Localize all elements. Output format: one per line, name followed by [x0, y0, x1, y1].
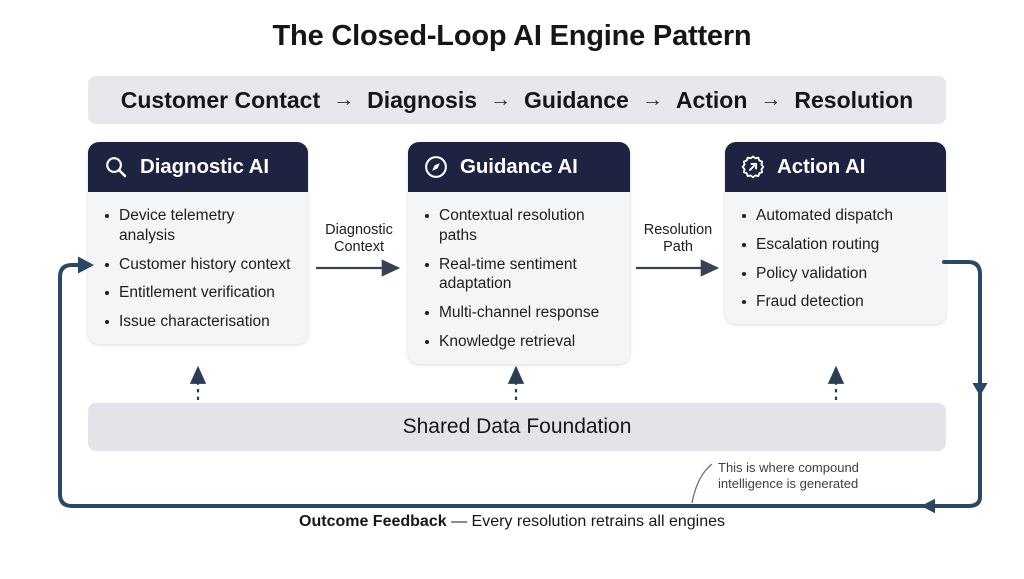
process-flow-strip: Customer Contact → Diagnosis → Guidance … — [88, 76, 946, 124]
feedback-loop-bottom-arrowhead — [921, 499, 935, 513]
flow-step-resolution: Resolution — [794, 87, 913, 114]
connector-label-resolution-path: Resolution Path — [622, 222, 734, 257]
connector-label-line-1: Diagnostic — [303, 222, 415, 239]
annotation-line-2: intelligence is generated — [718, 476, 918, 492]
caption-strong: Outcome Feedback — [299, 513, 447, 530]
card-title-action-ai: Action AI — [777, 155, 865, 179]
card-title-guidance-ai: Guidance AI — [460, 155, 578, 179]
flow-step-diagnosis: Diagnosis — [367, 87, 477, 114]
connector-label-diagnostic-context: Diagnostic Context — [303, 222, 415, 257]
gear-arrow-icon — [740, 154, 766, 180]
flow-step-customer-contact: Customer Contact — [121, 87, 320, 114]
feedback-loop-left-segment — [60, 265, 80, 506]
connector-label-line-2: Path — [622, 239, 734, 256]
card-body-diagnostic-ai: Device telemetry analysis Customer histo… — [88, 192, 308, 344]
list-item: Customer history context — [102, 255, 294, 275]
card-body-action-ai: Automated dispatch Escalation routing Po… — [725, 192, 946, 324]
engine-card-diagnostic-ai: Diagnostic AI Device telemetry analysis … — [88, 142, 308, 344]
foundation-label: Shared Data Foundation — [403, 415, 632, 439]
compass-icon — [423, 154, 449, 180]
list-item: Automated dispatch — [739, 206, 932, 226]
caption-rest: — Every resolution retrains all engines — [451, 513, 725, 530]
diagram-canvas: The Closed-Loop AI Engine Pattern Custom… — [0, 0, 1024, 579]
list-item: Contextual resolution paths — [422, 206, 616, 246]
card-header-diagnostic-ai: Diagnostic AI — [88, 142, 308, 192]
feedback-loop-right-arrowhead — [972, 383, 987, 396]
bullet-list-action-ai: Automated dispatch Escalation routing Po… — [739, 206, 932, 312]
feedback-loop-right-segment — [944, 262, 980, 497]
flow-arrow-icon: → — [642, 89, 663, 112]
flow-step-guidance: Guidance — [524, 87, 629, 114]
annotation-leader-line — [692, 464, 712, 503]
card-header-guidance-ai: Guidance AI — [408, 142, 630, 192]
outcome-feedback-caption: Outcome Feedback — Every resolution retr… — [0, 513, 1024, 531]
flow-step-action: Action — [676, 87, 748, 114]
list-item: Fraud detection — [739, 292, 932, 312]
magnifier-icon — [103, 154, 129, 180]
card-body-guidance-ai: Contextual resolution paths Real-time se… — [408, 192, 630, 364]
flow-arrow-icon: → — [490, 89, 511, 112]
annotation-line-1: This is where compound — [718, 460, 918, 476]
card-title-diagnostic-ai: Diagnostic AI — [140, 155, 269, 179]
engine-card-action-ai: Action AI Automated dispatch Escalation … — [725, 142, 946, 324]
connector-label-line-1: Resolution — [622, 222, 734, 239]
feedback-loop-bottom-segment — [72, 497, 980, 506]
bullet-list-guidance-ai: Contextual resolution paths Real-time se… — [422, 206, 616, 352]
list-item: Real-time sentiment adaptation — [422, 255, 616, 295]
flow-arrow-icon: → — [333, 89, 354, 112]
list-item: Multi-channel response — [422, 303, 616, 323]
list-item: Escalation routing — [739, 235, 932, 255]
list-item: Entitlement verification — [102, 283, 294, 303]
list-item: Issue characterisation — [102, 312, 294, 332]
page-title: The Closed-Loop AI Engine Pattern — [0, 20, 1024, 53]
flow-arrow-icon: → — [760, 89, 781, 112]
list-item: Device telemetry analysis — [102, 206, 294, 246]
bullet-list-diagnostic-ai: Device telemetry analysis Customer histo… — [102, 206, 294, 332]
shared-data-foundation-bar: Shared Data Foundation — [88, 403, 946, 451]
compound-intelligence-annotation: This is where compound intelligence is g… — [718, 460, 918, 493]
engine-card-guidance-ai: Guidance AI Contextual resolution paths … — [408, 142, 630, 364]
card-header-action-ai: Action AI — [725, 142, 946, 192]
list-item: Knowledge retrieval — [422, 332, 616, 352]
list-item: Policy validation — [739, 264, 932, 284]
connector-label-line-2: Context — [303, 239, 415, 256]
